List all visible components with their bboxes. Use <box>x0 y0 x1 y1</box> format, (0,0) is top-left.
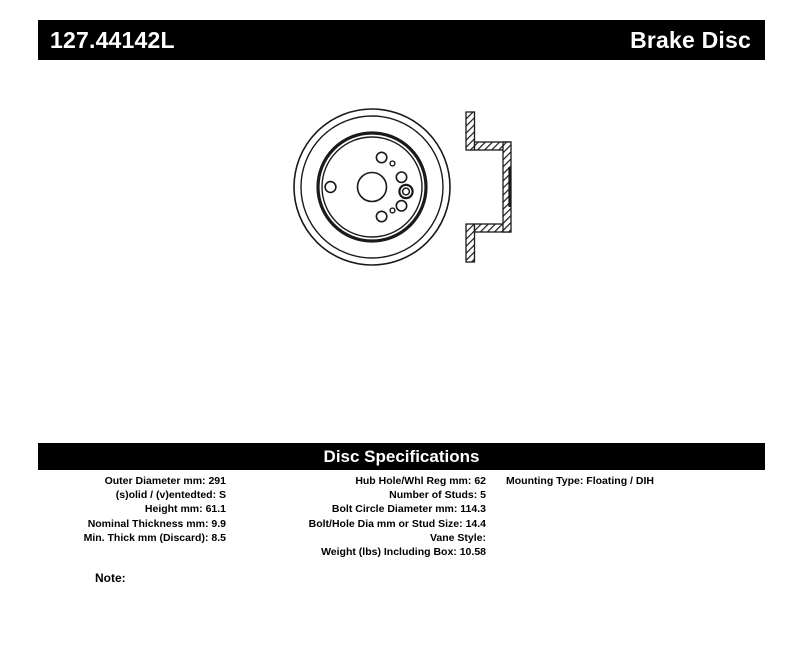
spec-value: 61.1 <box>206 503 226 515</box>
spec-label: Min. Thick mm (Discard): <box>84 532 212 544</box>
spec-row: Number of Studs: 5 <box>234 488 486 502</box>
spec-label: Bolt Circle Diameter mm: <box>332 503 460 515</box>
spec-value: 14.4 <box>466 518 486 530</box>
spec-row: Vane Style: <box>234 531 486 545</box>
spec-value: 62 <box>474 475 486 487</box>
spec-row: Mounting Type: Floating / DIH <box>506 474 757 488</box>
spec-table: Outer Diameter mm: 291 (s)olid / (v)ente… <box>38 474 765 559</box>
spec-row: Hub Hole/Whl Reg mm: 62 <box>234 474 486 488</box>
bolt-hole-2 <box>396 172 406 182</box>
spec-row: (s)olid / (v)entedted: S <box>38 488 226 502</box>
stud-hole-with-stud <box>399 185 412 198</box>
note-line: Note: <box>95 570 126 586</box>
locating-pin-hole-1 <box>390 161 395 166</box>
spec-title: Disc Specifications <box>324 448 480 465</box>
spec-column-left: Outer Diameter mm: 291 (s)olid / (v)ente… <box>38 474 234 545</box>
cross-section-upper-flange <box>466 112 475 150</box>
spec-label: Hub Hole/Whl Reg mm: <box>355 475 474 487</box>
spec-label: Outer Diameter mm: <box>105 475 209 487</box>
spec-label: Weight (lbs) Including Box: <box>321 546 460 558</box>
spec-row: Bolt Circle Diameter mm: 114.3 <box>234 502 486 516</box>
spec-value: 5 <box>480 489 486 501</box>
spec-column-middle: Hub Hole/Whl Reg mm: 62 Number of Studs:… <box>234 474 494 559</box>
bolt-hole-4 <box>376 211 386 221</box>
spec-value: 8.5 <box>211 532 226 544</box>
spec-label: Mounting Type: <box>506 475 586 487</box>
spec-row: Nominal Thickness mm: 9.9 <box>38 517 226 531</box>
spec-row: Height mm: 61.1 <box>38 502 226 516</box>
spec-label: Height mm: <box>145 503 206 515</box>
rotor-face-view <box>294 109 450 265</box>
spec-value: 9.9 <box>211 518 226 530</box>
spec-label: (s)olid / (v)entedted: <box>116 489 219 501</box>
hat-left-hole <box>325 182 336 193</box>
spec-row: Min. Thick mm (Discard): 8.5 <box>38 531 226 545</box>
cross-section-edge-detail <box>508 167 511 207</box>
technical-drawing <box>270 95 550 285</box>
spec-row: Outer Diameter mm: 291 <box>38 474 226 488</box>
spec-row: Weight (lbs) Including Box: 10.58 <box>234 545 486 559</box>
spec-label: Vane Style: <box>430 532 486 544</box>
spec-value: 114.3 <box>460 503 486 515</box>
hub-center-hole <box>358 173 387 202</box>
brake-disc-drawing-svg <box>270 95 550 285</box>
spec-value: 291 <box>208 475 226 487</box>
note-label: Note: <box>95 571 126 585</box>
spec-value: S <box>219 489 226 501</box>
spec-label: Number of Studs: <box>389 489 480 501</box>
spec-row: Bolt/Hole Dia mm or Stud Size: 14.4 <box>234 517 486 531</box>
spec-column-right: Mounting Type: Floating / DIH <box>494 474 757 488</box>
rotor-cross-section-view <box>466 112 511 262</box>
stud-hole-inner <box>403 188 410 195</box>
spec-label: Nominal Thickness mm: <box>88 518 212 530</box>
bolt-hole-1 <box>376 152 386 162</box>
spec-title-bar: Disc Specifications <box>38 443 765 470</box>
product-type: Brake Disc <box>630 29 751 52</box>
bolt-hole-3 <box>396 201 406 211</box>
cross-section-lower-flange <box>466 224 475 262</box>
spec-value: 10.58 <box>460 546 486 558</box>
spec-value: Floating / DIH <box>586 475 654 487</box>
part-number: 127.44142L <box>50 29 175 52</box>
spec-label: Bolt/Hole Dia mm or Stud Size: <box>309 518 466 530</box>
header-bar: 127.44142L Brake Disc <box>38 20 765 60</box>
locating-pin-hole-2 <box>390 208 395 213</box>
